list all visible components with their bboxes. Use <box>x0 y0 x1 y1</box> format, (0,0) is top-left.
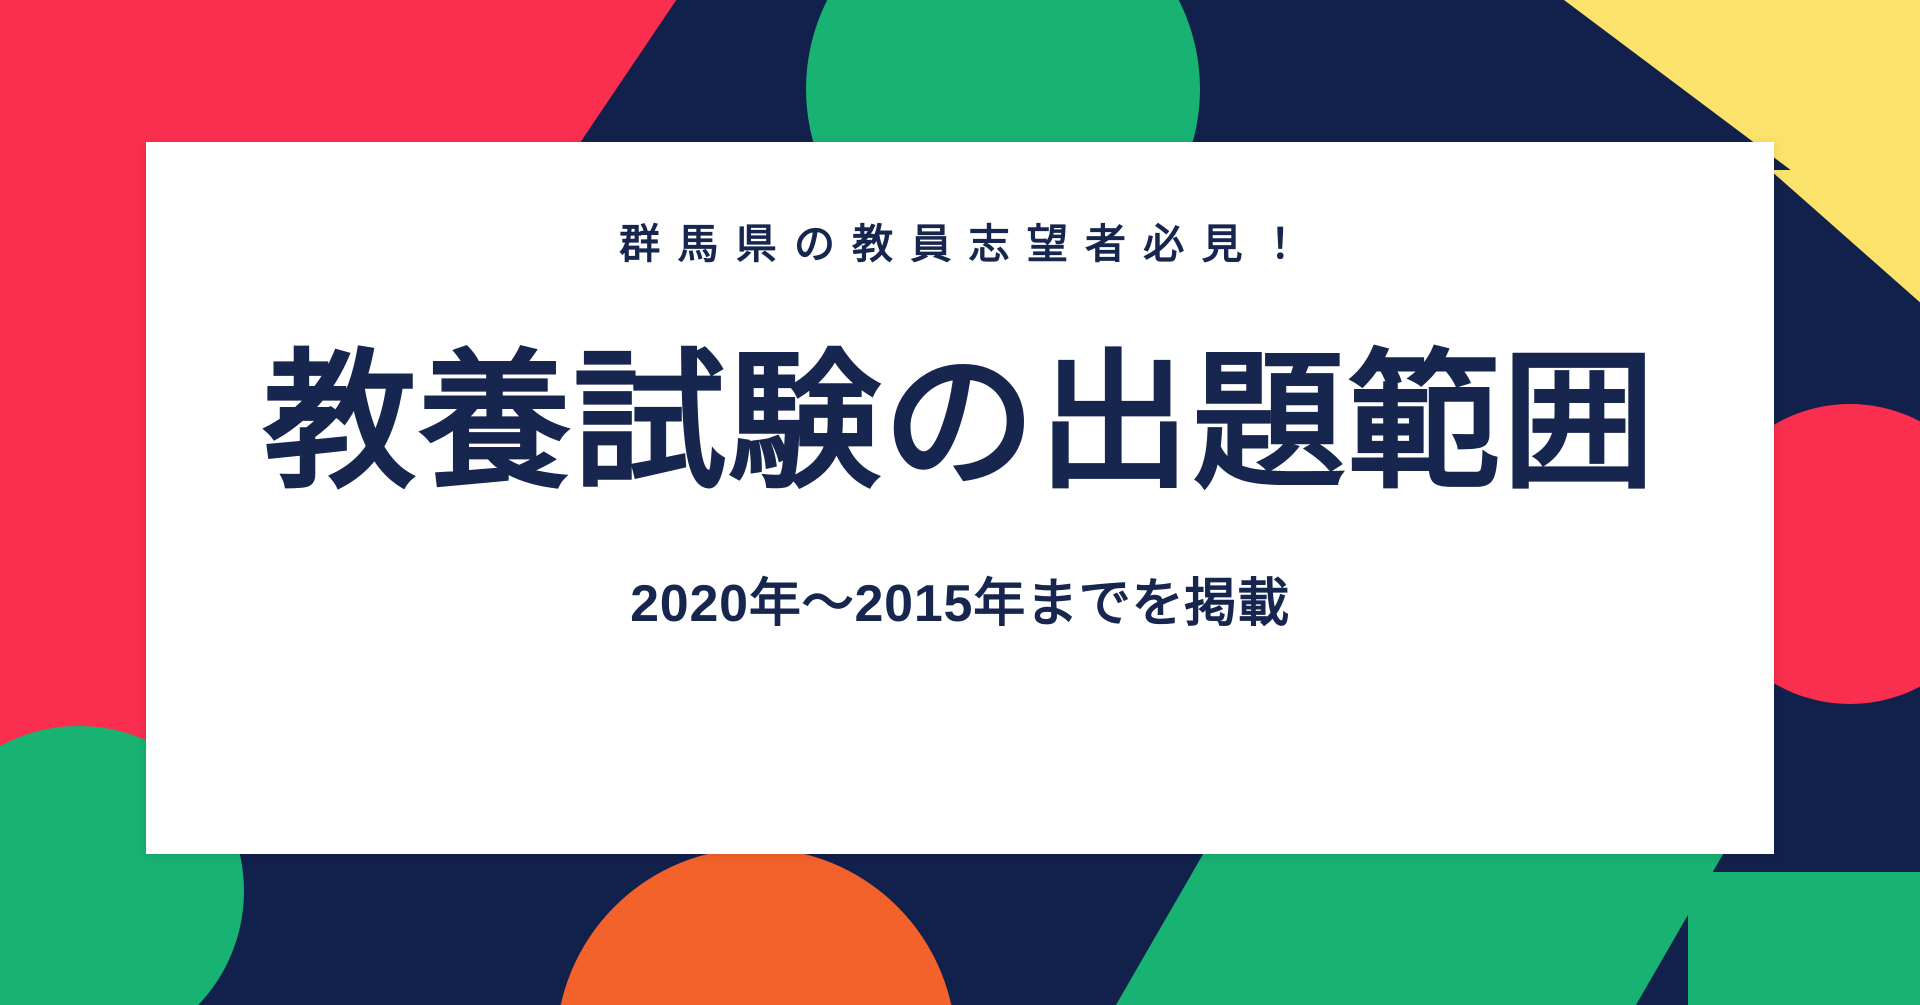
eyebrow-text: 群馬県の教員志望者必見！ <box>602 220 1318 269</box>
green-band-shape <box>1033 848 1726 1005</box>
content-card: 群馬県の教員志望者必見！ 教養試験の出題範囲 2020年〜2015年までを掲載 <box>146 142 1774 854</box>
green-rectangle-shape <box>1688 872 1920 1005</box>
yellow-triangle-accent-shape <box>1770 170 1920 320</box>
orange-circle-shape <box>556 848 956 1005</box>
caption-text: 2020年〜2015年までを掲載 <box>630 573 1290 635</box>
page-title: 教養試験の出題範囲 <box>263 341 1657 503</box>
poster-canvas: 群馬県の教員志望者必見！ 教養試験の出題範囲 2020年〜2015年までを掲載 <box>0 0 1920 1005</box>
